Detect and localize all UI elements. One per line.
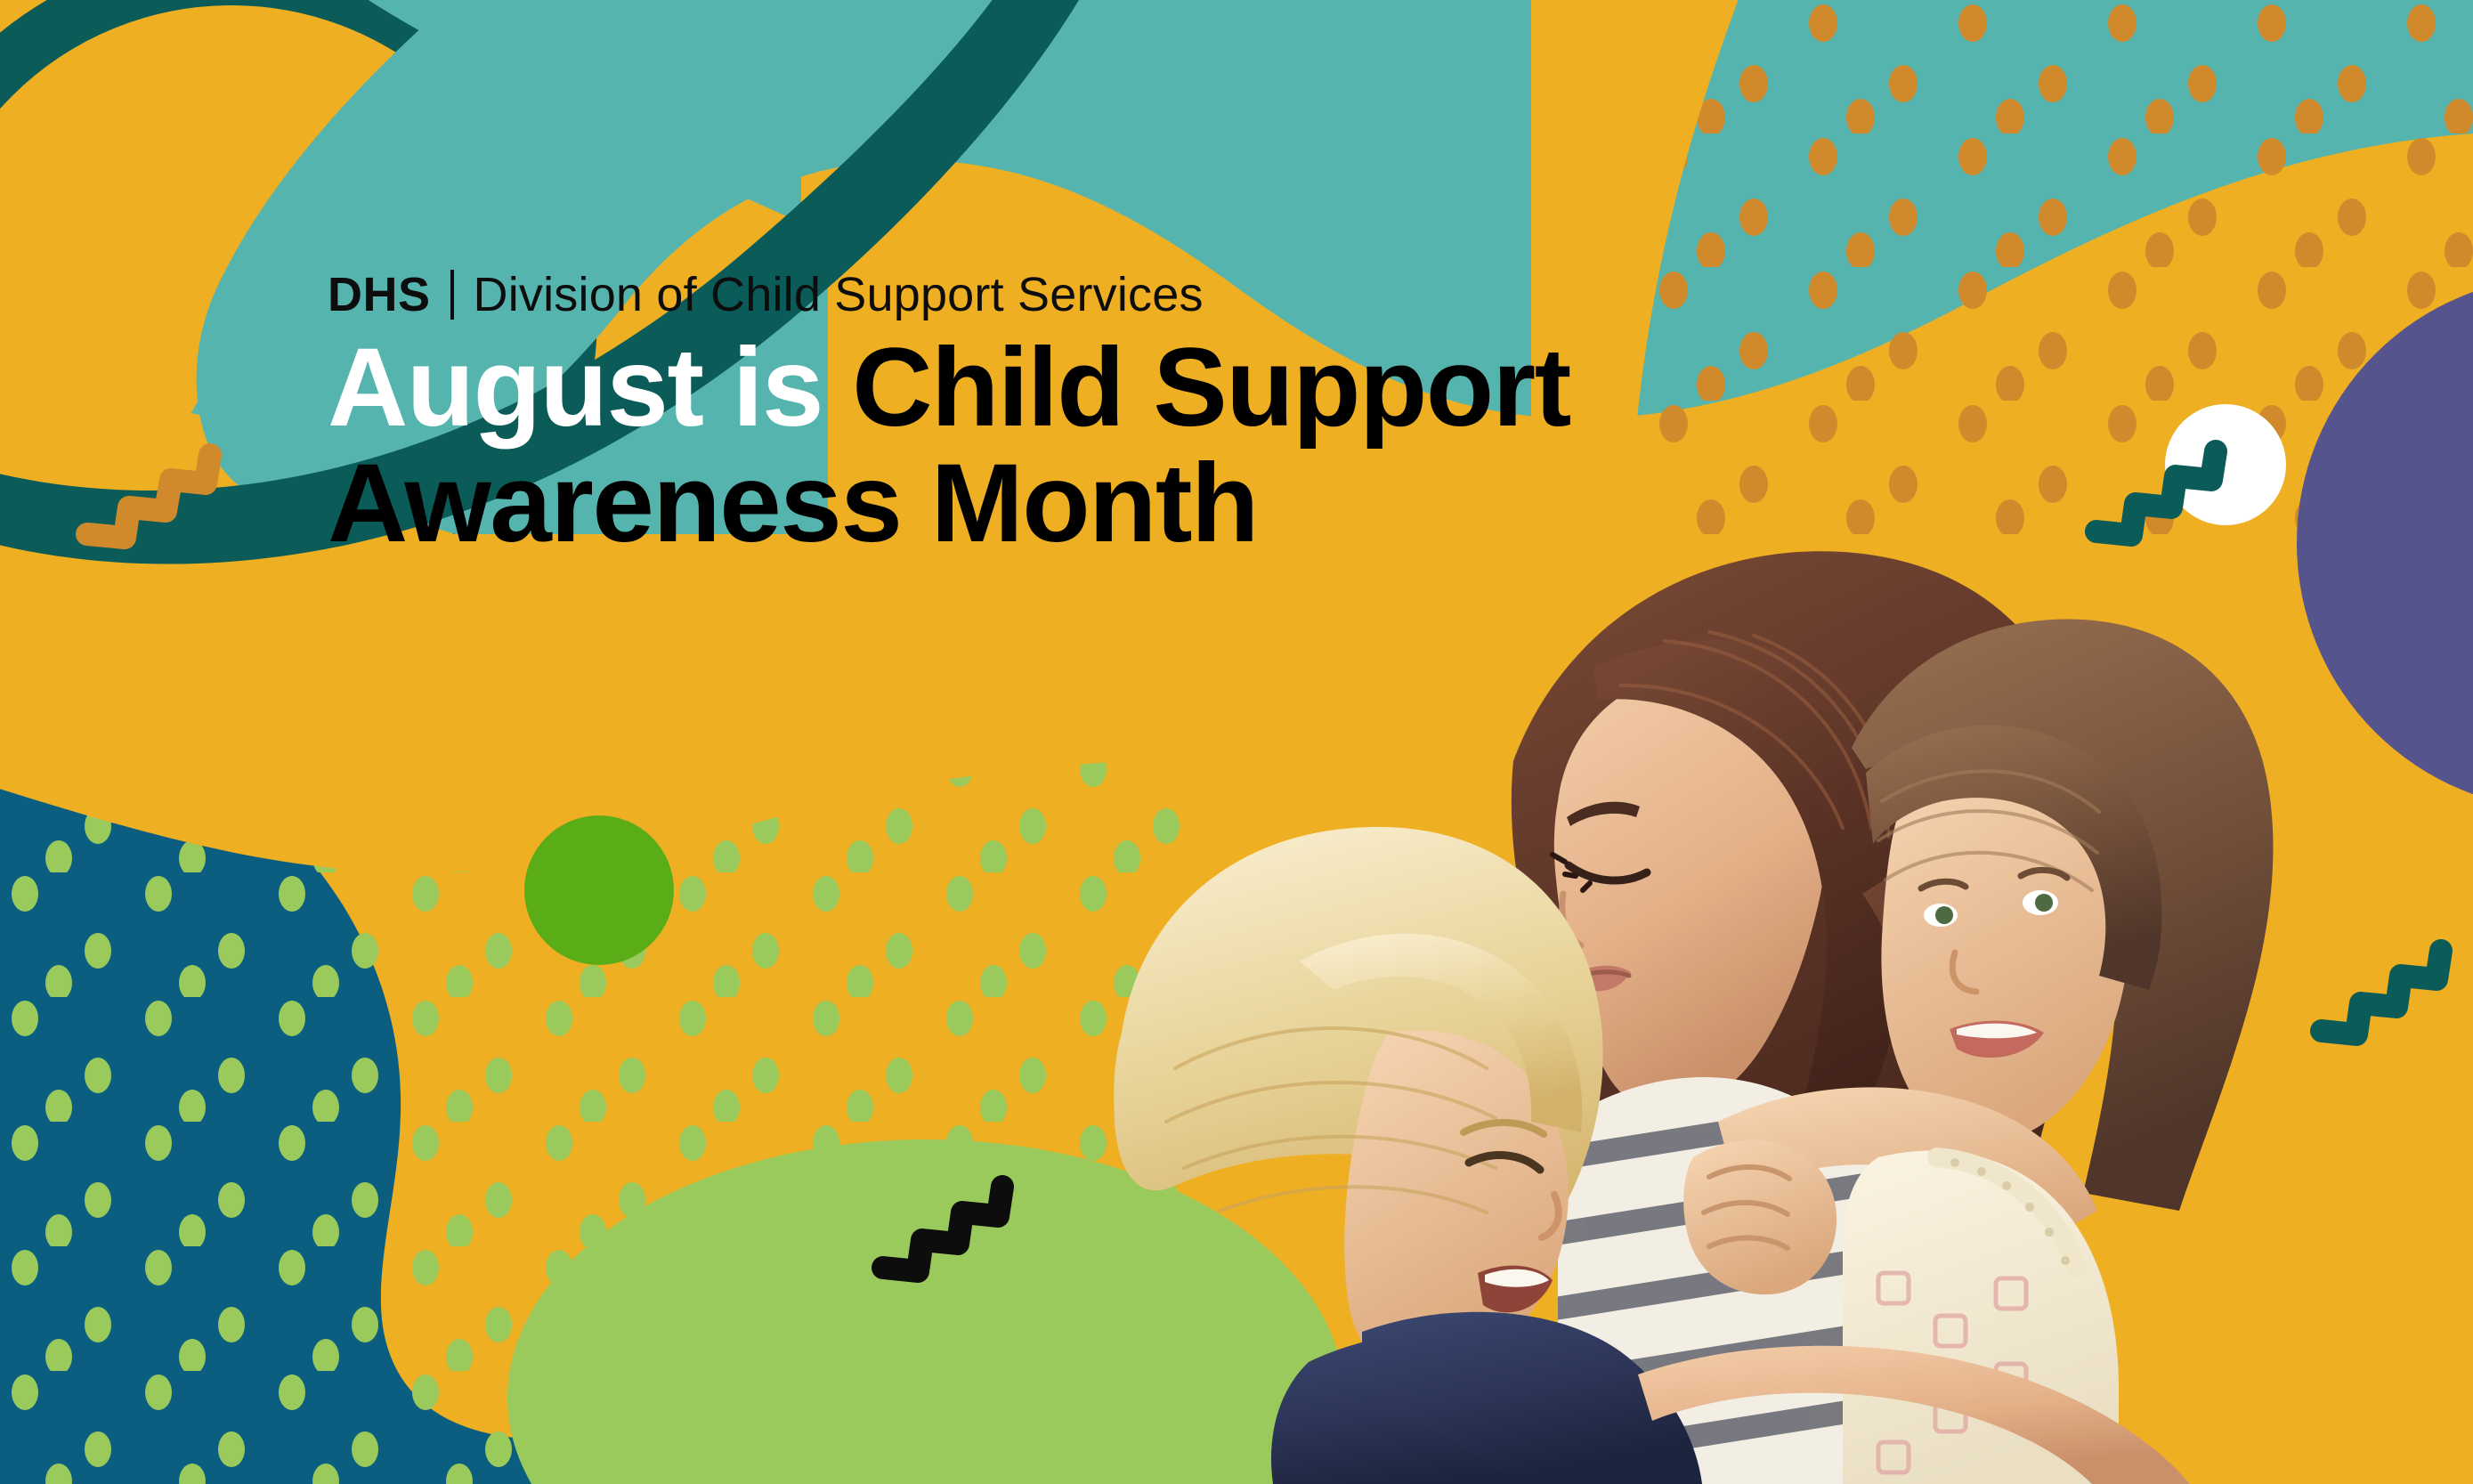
- headline-line-1-rest: Child Support: [852, 326, 1570, 450]
- child-support-awareness-banner: DHS Division of Child Support Services A…: [0, 0, 2473, 1484]
- headline-highlight: August is: [328, 326, 823, 450]
- headline-line-1: August is Child Support: [328, 331, 1570, 445]
- division-name: Division of Child Support Services: [474, 271, 1204, 319]
- headline-text-block: DHS Division of Child Support Services A…: [328, 267, 1570, 560]
- agency-abbrev: DHS: [328, 271, 431, 319]
- eyebrow-divider: [450, 270, 454, 320]
- eyebrow-lockup: DHS Division of Child Support Services: [328, 267, 1570, 322]
- white-circle: [2165, 404, 2286, 525]
- bright-green-circle: [524, 815, 674, 965]
- headline-line-2: Awareness Month: [328, 447, 1570, 561]
- background-decorative-art: [0, 0, 2473, 1484]
